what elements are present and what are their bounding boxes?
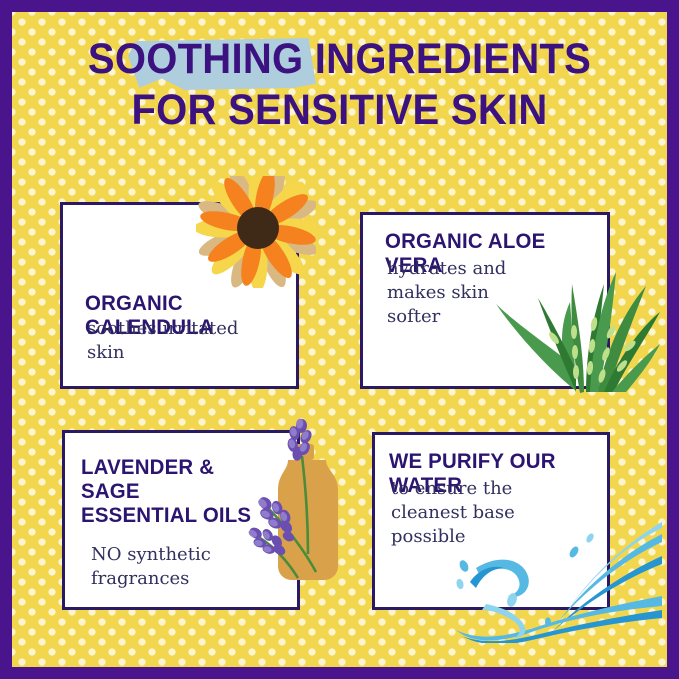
title-line-2: FOR SENSITIVE SKIN <box>24 85 655 136</box>
card-calendula: ORGANIC CALENDULA soothes irritated skin <box>60 202 299 389</box>
card-water: WE PURIFY OUR WATER to ensure the cleane… <box>372 432 610 610</box>
card-lavender: LAVENDER & SAGE ESSENTIAL OILS NO synthe… <box>62 430 300 610</box>
card-calendula-body: soothes irritated skin <box>87 317 297 365</box>
card-lavender-heading: LAVENDER & SAGE ESSENTIAL OILS <box>81 455 271 527</box>
card-aloe: ORGANIC ALOE VERA hydrates and makes ski… <box>360 212 610 389</box>
card-lavender-body: NO synthetic fragrances <box>91 543 291 591</box>
card-water-body: to ensure the cleanest base possible <box>391 477 581 549</box>
infographic-poster: SOOTHING INGREDIENTS FOR SENSITIVE SKIN … <box>0 0 679 679</box>
page-title: SOOTHING INGREDIENTS FOR SENSITIVE SKIN <box>0 34 679 135</box>
title-line-1: SOOTHING INGREDIENTS <box>24 34 655 85</box>
card-aloe-body: hydrates and makes skin softer <box>387 257 537 329</box>
